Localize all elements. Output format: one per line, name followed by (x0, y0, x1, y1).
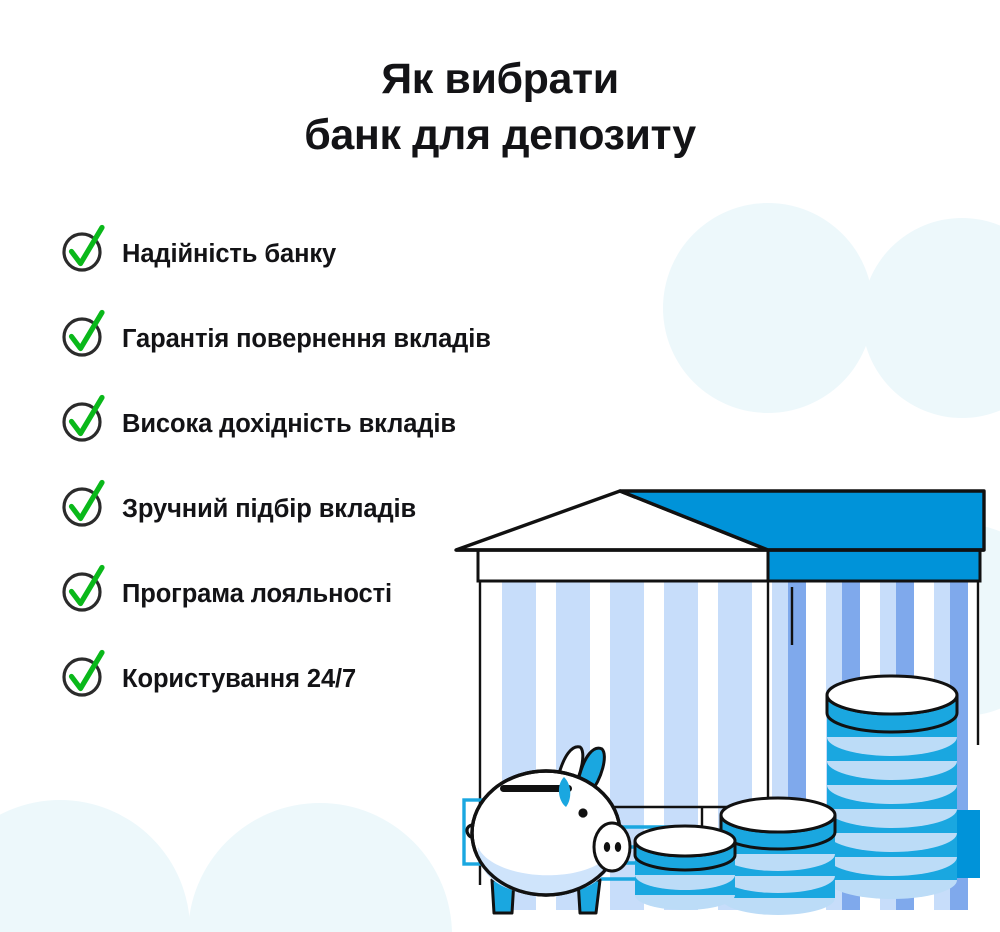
coin-stack-tall (827, 676, 957, 899)
decor-circle (663, 203, 873, 413)
piggy-eye (578, 808, 587, 817)
check-circle-icon (60, 401, 108, 449)
infographic-poster: Як вибрати банк для депозиту Надійність … (0, 0, 1000, 932)
title-line-1: Як вибрати (0, 52, 1000, 108)
check-circle-icon (60, 656, 108, 704)
piggy-nostril (604, 842, 610, 852)
list-item: Програма лояльності (60, 552, 580, 637)
piggy-snout (594, 823, 630, 871)
check-circle-icon (60, 231, 108, 279)
decor-circle (188, 803, 452, 932)
check-circle-icon (60, 316, 108, 364)
piggy-nostril (615, 842, 621, 852)
list-item-label: Висока дохідність вкладів (122, 410, 456, 439)
decor-circle (0, 800, 190, 932)
list-item-label: Зручний підбір вкладів (122, 495, 416, 524)
coin-stack-medium (721, 798, 835, 915)
bank-entablature-right (768, 547, 980, 581)
check-circle-icon (60, 486, 108, 534)
decor-circle (862, 218, 1000, 418)
coin-top-face (635, 826, 735, 856)
coin-top-face (721, 798, 835, 832)
list-item: Висока дохідність вкладів (60, 382, 580, 467)
list-item-label: Користування 24/7 (122, 665, 356, 694)
coin-top-face (827, 676, 957, 714)
list-item: Зручний підбір вкладів (60, 467, 580, 552)
page-title: Як вибрати банк для депозиту (0, 52, 1000, 164)
list-item: Користування 24/7 (60, 637, 580, 722)
list-item-label: Програма лояльності (122, 580, 392, 609)
checklist: Надійність банку Гарантія повернення вкл… (60, 212, 580, 722)
check-circle-icon (60, 571, 108, 619)
list-item-label: Надійність банку (122, 240, 336, 269)
title-line-2: банк для депозиту (0, 108, 1000, 164)
list-item: Надійність банку (60, 212, 580, 297)
list-item: Гарантія повернення вкладів (60, 297, 580, 382)
list-item-label: Гарантія повернення вкладів (122, 325, 491, 354)
coin-stack-short (635, 826, 735, 910)
